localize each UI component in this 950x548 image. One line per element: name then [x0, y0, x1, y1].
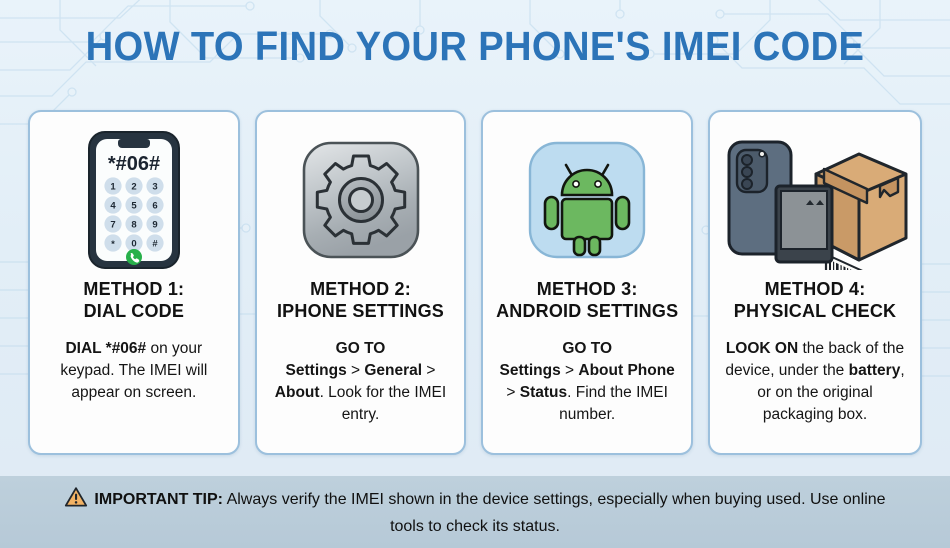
- svg-text:2: 2: [131, 182, 136, 193]
- method-card-iphone-settings[interactable]: METHOD 2: IPHONE SETTINGS GO TOSettings …: [255, 110, 467, 455]
- card-heading-line2: PHYSICAL CHECK: [734, 300, 897, 322]
- android-robot-icon: [526, 126, 648, 274]
- important-tip-text: Always verify the IMEI shown in the devi…: [223, 491, 886, 535]
- important-tip-label: IMPORTANT TIP:: [94, 491, 223, 508]
- card-heading-line2: DIAL CODE: [83, 300, 184, 322]
- card-body: LOOK ON the back of the device, under th…: [720, 338, 910, 426]
- gear-settings-icon: [300, 126, 422, 274]
- svg-text:6: 6: [152, 201, 157, 212]
- infographic-canvas: HOW TO FIND YOUR PHONE'S IMEI CODE *#06#: [0, 0, 950, 548]
- card-heading-line2: IPHONE SETTINGS: [277, 300, 444, 322]
- svg-text:7: 7: [110, 220, 115, 231]
- card-heading-line1: METHOD 1:: [83, 279, 184, 299]
- svg-text:4: 4: [110, 201, 116, 212]
- page-title: HOW TO FIND YOUR PHONE'S IMEI CODE: [33, 22, 917, 70]
- card-heading: METHOD 3: ANDROID SETTINGS: [496, 278, 678, 322]
- svg-text:*: *: [111, 239, 115, 250]
- svg-text:5: 5: [131, 201, 137, 212]
- card-heading-line1: METHOD 2:: [310, 279, 411, 299]
- methods-row: *#06# 123 456 789 *0#: [28, 110, 922, 455]
- important-tip-content: IMPORTANT TIP: Always verify the IMEI sh…: [60, 486, 890, 538]
- card-heading-line1: METHOD 4:: [765, 279, 866, 299]
- card-heading: METHOD 1: DIAL CODE: [83, 278, 184, 322]
- phone-battery-box-icon: [720, 126, 910, 274]
- svg-text:1: 1: [110, 182, 116, 193]
- warning-triangle-icon: [64, 486, 88, 515]
- important-tip-bar: IMPORTANT TIP: Always verify the IMEI sh…: [0, 476, 950, 548]
- svg-text:0: 0: [131, 239, 136, 250]
- method-card-physical-check[interactable]: METHOD 4: PHYSICAL CHECK LOOK ON the bac…: [708, 110, 922, 455]
- card-heading: METHOD 2: IPHONE SETTINGS: [277, 278, 444, 322]
- card-body: DIAL *#06# on your keypad. The IMEI will…: [40, 338, 228, 404]
- method-card-dial-code[interactable]: *#06# 123 456 789 *0#: [28, 110, 240, 455]
- card-heading-line2: ANDROID SETTINGS: [496, 300, 678, 322]
- card-heading: METHOD 4: PHYSICAL CHECK: [734, 278, 897, 322]
- card-heading-line1: METHOD 3:: [537, 279, 638, 299]
- card-body: GO TOSettings > General > About. Look fo…: [267, 338, 455, 426]
- phone-dialpad-icon: *#06# 123 456 789 *0#: [85, 126, 183, 274]
- svg-text:3: 3: [152, 182, 157, 193]
- card-body: GO TOSettings > About Phone > Status. Fi…: [493, 338, 681, 426]
- svg-text:9: 9: [152, 220, 157, 231]
- svg-text:#: #: [152, 239, 158, 250]
- method-card-android-settings[interactable]: METHOD 3: ANDROID SETTINGS GO TOSettings…: [481, 110, 693, 455]
- svg-text:*#06#: *#06#: [108, 153, 160, 175]
- svg-text:8: 8: [131, 220, 136, 231]
